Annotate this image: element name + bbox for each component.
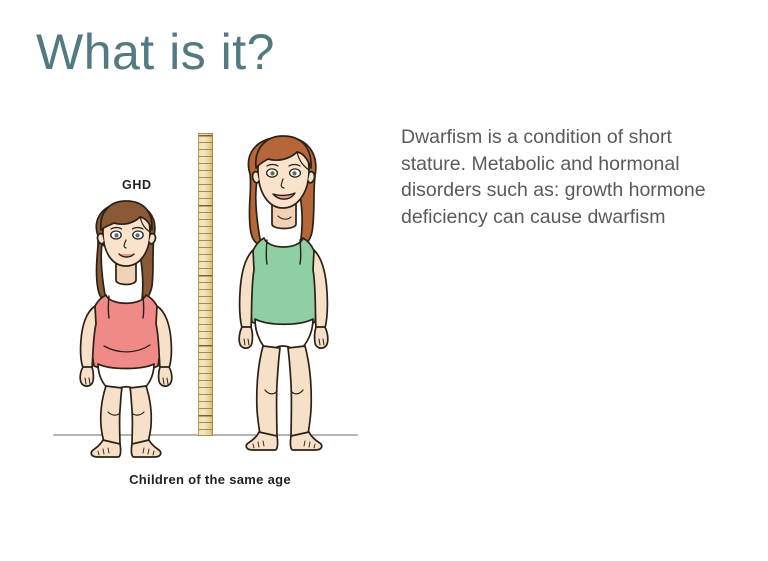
tall-arm-left [240, 250, 254, 331]
tall-hand-right [315, 327, 328, 348]
ghd-child-figure [62, 196, 192, 448]
ghd-hand-right [159, 367, 172, 386]
tall-shirt [249, 238, 319, 327]
ghd-leg-right [130, 386, 151, 446]
ghd-shirt [91, 295, 162, 371]
body-paragraph: Dwarfism is a condition of short stature… [401, 124, 713, 230]
ghd-hand-left [80, 367, 93, 386]
ghd-foot-right [131, 440, 160, 457]
tall-hand-left [239, 327, 252, 348]
ghd-foot-left [91, 440, 120, 457]
slide-canvas: What is it? Dwarfism is a condition of s… [0, 0, 768, 561]
page-title: What is it? [36, 22, 275, 82]
ghd-leg-left [101, 386, 122, 446]
tall-arm-right [313, 250, 327, 331]
illustration-caption: Children of the same age [129, 472, 291, 487]
measuring-ruler-icon [198, 133, 213, 436]
tall-foot-right [290, 432, 321, 450]
ghd-label: GHD [122, 178, 152, 192]
ruler-major-ticks [199, 135, 212, 434]
dwarfism-illustration: GHD [40, 110, 380, 500]
tall-foot-left [246, 432, 277, 450]
typical-child-figure [218, 132, 353, 448]
